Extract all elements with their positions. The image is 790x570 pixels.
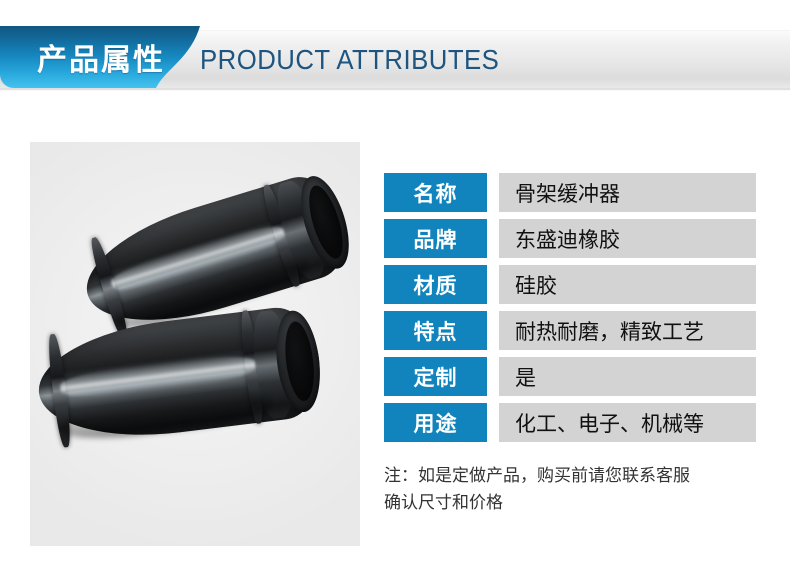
- attribute-value: 耐热耐磨，精致工艺: [499, 311, 756, 350]
- attribute-value: 东盛迪橡胶: [499, 219, 756, 258]
- table-row: 材质 硅胶: [384, 265, 756, 304]
- product-photo: [30, 142, 360, 546]
- product-bellow-lower: [32, 303, 326, 449]
- product-attributes-table: 名称 骨架缓冲器 品牌 东盛迪橡胶 材质 硅胶 特点 耐热耐磨，精致工艺 定制 …: [384, 173, 756, 449]
- attribute-label: 定制: [384, 357, 487, 396]
- table-row: 名称 骨架缓冲器: [384, 173, 756, 212]
- table-row: 用途 化工、电子、机械等: [384, 403, 756, 442]
- note-line-2: 确认尺寸和价格: [384, 490, 762, 517]
- attribute-value: 硅胶: [499, 265, 756, 304]
- attribute-label: 用途: [384, 403, 487, 442]
- attribute-value: 骨架缓冲器: [499, 173, 756, 212]
- attribute-label: 材质: [384, 265, 487, 304]
- header-english-title: PRODUCT ATTRIBUTES: [200, 42, 499, 78]
- table-row: 定制 是: [384, 357, 756, 396]
- product-image-frame: [30, 142, 360, 546]
- note-line-1: 注：如是定做产品，购买前请您联系客服: [384, 463, 762, 490]
- table-row: 特点 耐热耐磨，精致工艺: [384, 311, 756, 350]
- header-ribbon-shape: [0, 26, 205, 92]
- page-header: 产品属性 PRODUCT ATTRIBUTES: [0, 0, 790, 112]
- customization-note: 注：如是定做产品，购买前请您联系客服 确认尺寸和价格: [384, 463, 762, 517]
- attribute-label: 品牌: [384, 219, 487, 258]
- attribute-value: 是: [499, 357, 756, 396]
- attribute-value: 化工、电子、机械等: [499, 403, 756, 442]
- attribute-label: 名称: [384, 173, 487, 212]
- attribute-label: 特点: [384, 311, 487, 350]
- table-row: 品牌 东盛迪橡胶: [384, 219, 756, 258]
